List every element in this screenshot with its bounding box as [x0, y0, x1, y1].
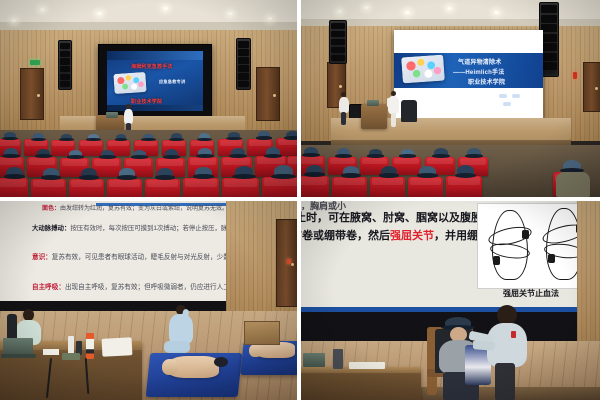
- slide-text-seg-a: 布卷或绷带卷，然后: [301, 230, 390, 242]
- ceiling-light: [405, 11, 410, 14]
- slide-line-2: ——Heimlich手法: [453, 67, 504, 76]
- slide-decor-dot: [499, 94, 507, 98]
- ceiling-light: [228, 12, 233, 15]
- medical-items-graphic: [113, 72, 146, 94]
- collage-panel-top-right: 气道异物清除术 ——Heimlich手法 职业技术学院: [301, 0, 600, 197]
- slide-top-strip: [107, 51, 203, 60]
- slide-line-1: 海姆利克急救手法: [131, 63, 173, 70]
- slide-body-2: 按压有效时，每次按压可摸到1次搏动；若停止按压，脉搏仍搏动，说明心跳恢复。: [70, 225, 232, 232]
- knot-left: [522, 230, 529, 239]
- knot-left-2: [493, 256, 500, 265]
- ceiling-light: [97, 12, 102, 15]
- text-slide: 面色：由发绀转为红润，复苏有效；变为灰白或紫绀，说明复苏无效。 大动脉搏动：按压…: [0, 201, 232, 305]
- projection-screen: 海姆利克急救手法 应急急救专讲 职业技术学院: [98, 44, 212, 118]
- presenter-body: [124, 109, 133, 124]
- slide-label-3: 意识：: [32, 254, 52, 261]
- exit-sign-icon: [573, 72, 577, 79]
- knot-right-2: [548, 254, 555, 263]
- slide-body-1: 由发绀转为红润，复苏有效；变为灰白或紫绀，说明复苏无效。: [60, 206, 228, 212]
- slide-decor-dot: [512, 94, 520, 98]
- door-right: [256, 67, 280, 121]
- line-array-speaker-left: [58, 40, 72, 90]
- line-array-speaker-left: [329, 20, 347, 64]
- indicator-light-icon: [287, 259, 291, 264]
- slide-text-line-3: 意识：复苏有效，可见患者有眼球活动，睫毛反射与对光反射，少数患者出现手脚活动。: [32, 251, 232, 261]
- figure-caption: 强屈关节止血法: [503, 288, 559, 299]
- laptop-keyboard: [1, 354, 36, 358]
- ceiling-light: [163, 7, 168, 10]
- ceiling-light: [364, 6, 369, 9]
- instructor-demonstrating: [483, 305, 529, 400]
- assistant-body: [339, 97, 349, 113]
- ceiling-light: [40, 8, 45, 11]
- presenter-arm: [387, 98, 390, 107]
- slide-bottom-strip: [107, 105, 203, 111]
- exit-sign-icon: [30, 60, 40, 65]
- attendee-right-side: [556, 166, 590, 197]
- collage-panel-bottom-right: ，胸肩或小 止时，可在腋窝、肘窝、腘窝以及腹股 布卷或绷带卷，然后强屈关节，并用…: [301, 201, 600, 400]
- instructor-arm-right: [473, 340, 496, 351]
- instructor-head: [497, 305, 517, 325]
- cpr-instructor: [168, 305, 194, 355]
- photo-collage: 海姆利克急救手法 应急急救专讲 职业技术学院: [0, 0, 600, 400]
- ceiling-light: [337, 10, 342, 13]
- manikin-head-right: [249, 344, 262, 357]
- slide-text-row-1: 止时，可在腋窝、肘窝、腘窝以及腹股: [301, 209, 482, 225]
- ceiling-light: [268, 17, 272, 20]
- slide-line-3: 职业技术学院: [131, 98, 162, 105]
- assistant-legs: [341, 112, 346, 125]
- medical-items-graphic: [401, 55, 445, 84]
- hemostasis-slide: ，胸肩或小 止时，可在腋窝、肘窝、腘窝以及腹股 布卷或绷带卷，然后强屈关节，并用…: [301, 201, 600, 307]
- podium-laptop: [106, 112, 118, 118]
- paper-stack: [102, 337, 133, 357]
- desk-papers: [349, 362, 385, 369]
- collage-panel-bottom-left: 面色：由发绀转为红润，复苏有效；变为灰白或紫绀，说明复苏无效。 大动脉搏动：按压…: [0, 201, 297, 400]
- door-right: [583, 62, 600, 112]
- slide-label-1: 面色：: [42, 206, 60, 212]
- control-box: [62, 353, 80, 360]
- ceiling-band: [0, 22, 297, 30]
- paper-sheet: [43, 349, 59, 355]
- instructor-badge: [511, 331, 516, 338]
- slide-body-3: 复苏有效，可见患者有眼球活动，睫毛反射与对光反射，少数患者出现手脚活动。: [52, 254, 232, 261]
- instructor-knees: [164, 341, 190, 353]
- podium-laptop: [367, 100, 379, 106]
- water-bottle: [86, 333, 94, 359]
- slide-text-line-1: 面色：由发绀转为红润，复苏有效；变为灰白或紫绀，说明复苏无效。: [42, 203, 228, 212]
- manikin-hair-left: [214, 357, 228, 367]
- slide-text-row-2: 布卷或绷带卷，然后强屈关节，并用绷: [301, 227, 478, 243]
- side-table: [301, 367, 421, 400]
- operator-chair: [7, 314, 17, 341]
- slide-text-line-2: 大动脉搏动：按压有效时，每次按压可摸到1次搏动；若停止按压，脉搏仍搏动，说明心跳…: [32, 223, 232, 232]
- laptop-screen: [303, 353, 325, 367]
- slide-label-4: 自主呼吸：: [32, 284, 65, 291]
- stage-chair: [401, 100, 417, 122]
- slide-body-4: 出现自主呼吸，复苏有效；但呼吸微弱者，仍应进行人工呼吸。: [65, 284, 232, 291]
- slide-line-3: 职业技术学院: [468, 77, 505, 86]
- presenter-legs: [391, 113, 396, 127]
- slide-text-seg-b: ，并用绷: [434, 230, 478, 242]
- collage-panel-top-left: 海姆利克急救手法 应急急救专讲 职业技术学院: [0, 0, 297, 197]
- laptop-screen: [3, 338, 33, 355]
- desk-equipment: [333, 349, 343, 369]
- presenter: [388, 91, 399, 127]
- presenter: [124, 104, 133, 133]
- title-slide: 海姆利克急救手法 应急急救专讲 职业技术学院: [107, 51, 203, 111]
- slide-text-line-4: 自主呼吸：出现自主呼吸，复苏有效；但呼吸微弱者，仍应进行人工呼吸。: [32, 281, 232, 291]
- cardboard-box: [244, 321, 280, 345]
- door-left: [20, 68, 44, 120]
- slide-line-2: 应急急救专讲: [159, 79, 185, 85]
- ceiling-light: [447, 7, 452, 10]
- slide-text-highlight: 强屈关节: [390, 230, 434, 242]
- slide-line-1: 气道异物清除术: [458, 57, 501, 66]
- slide-label-2: 大动脉搏动：: [32, 225, 70, 232]
- ceiling-light: [12, 19, 16, 22]
- manikin-head-left: [162, 359, 178, 375]
- white-cup: [68, 336, 74, 354]
- wall-right: [577, 201, 600, 351]
- assistant-standing: [339, 92, 349, 125]
- line-array-speaker-right: [236, 38, 251, 90]
- instructor-legs: [495, 363, 515, 400]
- slide-decor-dot: [503, 102, 511, 106]
- podium: [361, 104, 387, 129]
- ceiling-light: [494, 11, 499, 14]
